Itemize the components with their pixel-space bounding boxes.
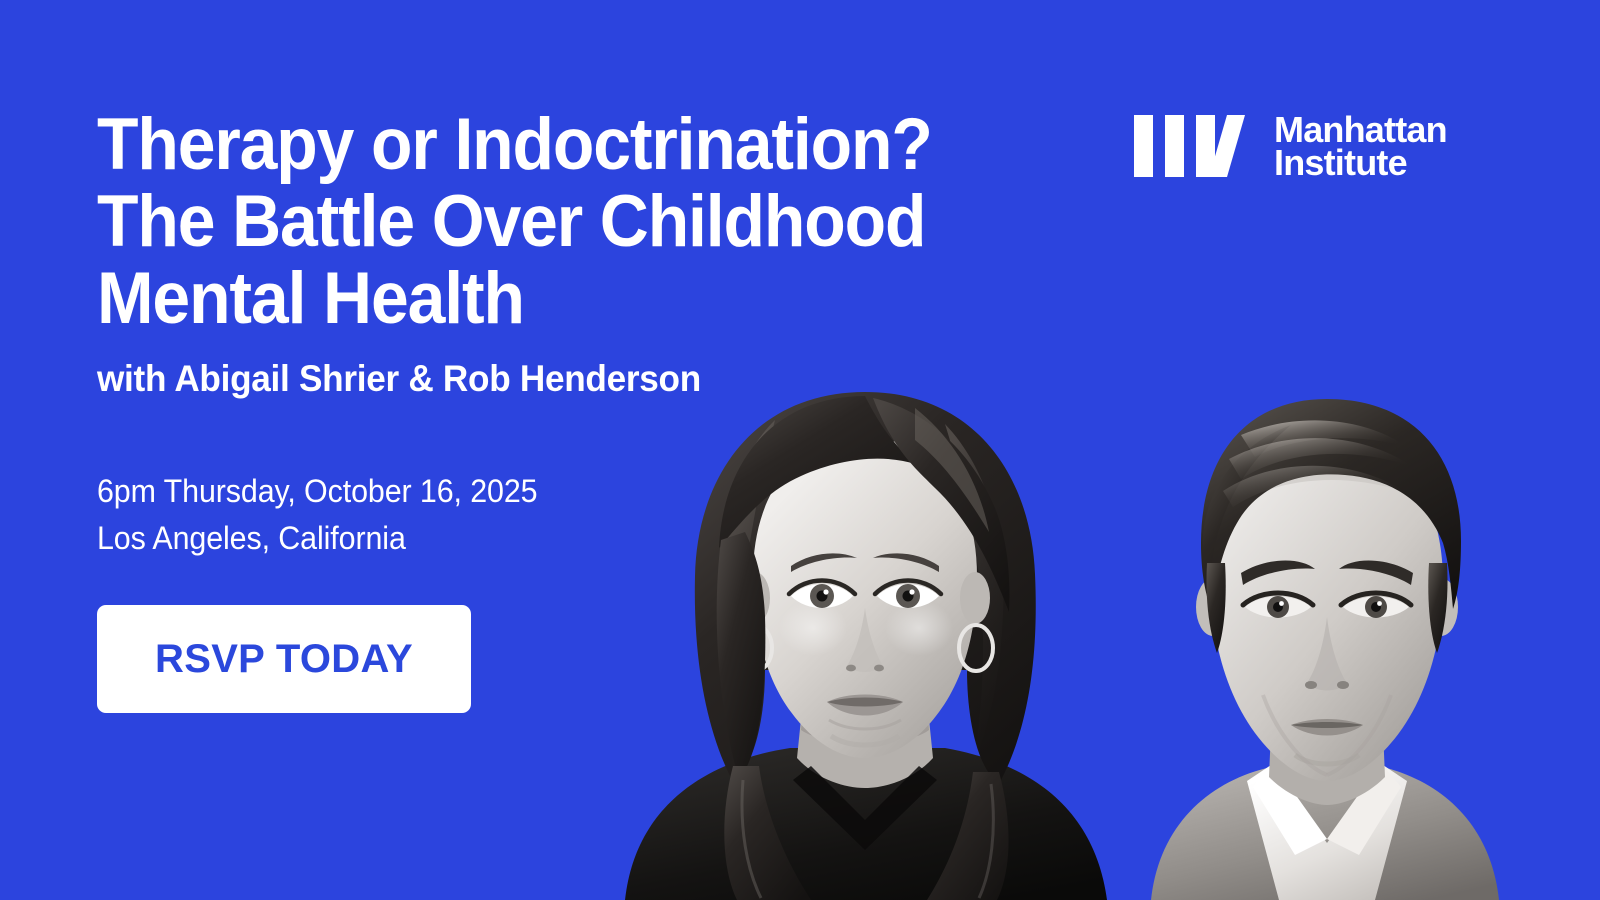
page-title: Therapy or Indoctrination? The Battle Ov…	[97, 106, 1027, 337]
manhattan-institute-bars-icon	[1134, 115, 1248, 177]
speakers-subtitle: with Abigail Shrier & Rob Henderson	[97, 357, 701, 401]
event-datetime: 6pm Thursday, October 16, 2025	[97, 468, 537, 515]
headline-line-2: The Battle Over Childhood	[97, 183, 1027, 260]
portrait-rob-henderson	[1145, 395, 1505, 900]
headline-line-3: Mental Health	[97, 260, 1027, 337]
rsvp-button[interactable]: RSVP TODAY	[97, 605, 471, 713]
portrait-abigail-shrier	[615, 380, 1115, 900]
headline-line-1: Therapy or Indoctrination?	[97, 106, 1027, 183]
logo-wordmark: Manhattan Institute	[1274, 113, 1447, 179]
logo-wordmark-line2: Institute	[1274, 146, 1447, 179]
manhattan-institute-logo[interactable]: Manhattan Institute	[1134, 113, 1447, 179]
event-promo-card: Manhattan Institute Therapy or Indoctrin…	[0, 0, 1600, 900]
event-location: Los Angeles, California	[97, 515, 537, 562]
event-details: 6pm Thursday, October 16, 2025 Los Angel…	[97, 468, 537, 562]
rsvp-button-label: RSVP TODAY	[155, 637, 413, 682]
